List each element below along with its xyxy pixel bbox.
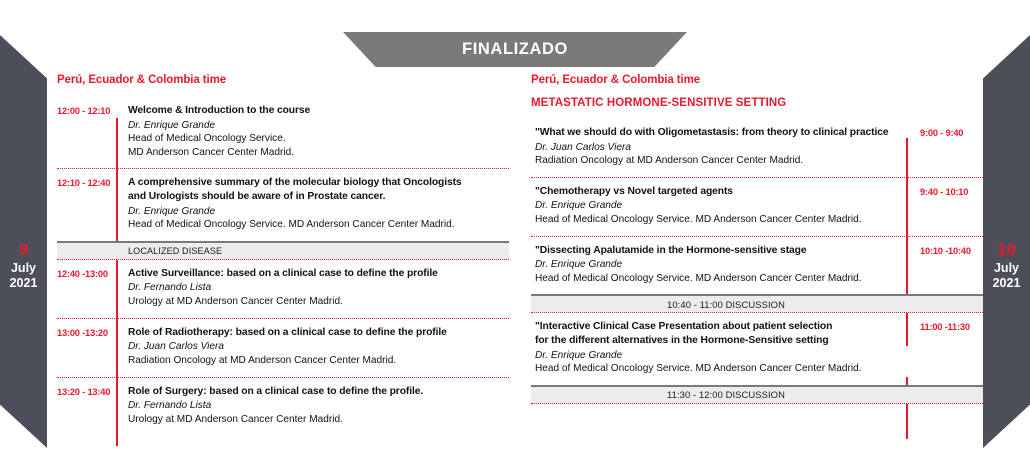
session-speaker: Dr. Juan Carlos Viera [535,141,896,155]
status-banner-label: FINALIZADO [462,40,568,59]
session-title: "What we should do with Oligometastasis:… [535,126,896,140]
session-title: "Dissecting Apalutamide in the Hormone-s… [535,244,896,258]
session-row[interactable]: "What we should do with Oligometastasis:… [531,119,983,178]
session-speaker: Dr. Enrique Grande [128,205,505,219]
session-body: "Interactive Clinical Case Presentation … [531,313,906,384]
session-speaker: Dr. Fernando Lista [128,281,505,295]
session-speaker: Dr. Enrique Grande [128,119,505,133]
session-body: "Chemotherapy vs Novel targeted agents D… [531,178,906,236]
session-affiliation: Head of Medical Oncology Service. MD And… [128,218,505,232]
session-row[interactable]: "Dissecting Apalutamide in the Hormone-s… [531,237,983,295]
discussion-band-label: 11:30 - 12:00 DISCUSSION [667,389,847,400]
discussion-band-2: 11:30 - 12:00 DISCUSSION [531,385,983,404]
session-affiliation: Urology at MD Anderson Cancer Center Mad… [128,295,505,309]
session-row[interactable]: 12:10 - 12:40 A comprehensive summary of… [57,169,509,240]
session-row[interactable]: "Chemotherapy vs Novel targeted agents D… [531,178,983,237]
session-body: Role of Radiotherapy: based on a clinica… [116,319,509,377]
session-title: "Chemotherapy vs Novel targeted agents [535,185,896,199]
discussion-band-1: 10:40 - 11:00 DISCUSSION [531,294,983,313]
session-body: "Dissecting Apalutamide in the Hormone-s… [531,237,906,295]
session-time: 12:10 - 12:40 [57,169,116,240]
date-day: 9 [0,240,47,261]
session-affiliation: Head of Medical Oncology Service. MD And… [535,213,896,227]
session-title: A comprehensive summary of the molecular… [128,176,505,190]
date-panel-day1: 9 July 2021 [0,35,47,448]
session-body: Welcome & Introduction to the course Dr.… [116,97,509,168]
session-body: "What we should do with Oligometastasis:… [531,119,906,177]
session-list-day2: "What we should do with Oligometastasis:… [531,119,983,404]
session-speaker: Dr. Juan Carlos Viera [128,340,505,354]
status-banner: FINALIZADO [343,32,687,67]
session-list-day1: 12:00 - 12:10 Welcome & Introduction to … [57,97,509,435]
agenda-column-day2: Perú, Ecuador & Colombia time METASTATIC… [531,74,983,404]
session-time: 12:00 - 12:10 [57,97,116,168]
session-row[interactable]: "Interactive Clinical Case Presentation … [531,313,983,384]
timezone-label-day1: Perú, Ecuador & Colombia time [57,74,509,86]
session-body: Role of Surgery: based on a clinical cas… [116,378,509,436]
session-body: A comprehensive summary of the molecular… [116,169,509,240]
session-speaker: Dr. Enrique Grande [535,258,896,272]
session-row[interactable]: 12:40 -13:00 Active Surveillance: based … [57,260,509,319]
session-time: 11:00 -11:30 [906,313,983,384]
session-time: 13:00 -13:20 [57,319,116,377]
session-affiliation: MD Anderson Cancer Center Madrid. [128,146,505,160]
session-title: Active Surveillance: based on a clinical… [128,267,505,281]
session-title: Welcome & Introduction to the course [128,104,505,118]
session-speaker: Dr. Fernando Lista [128,399,505,413]
date-year: 2021 [983,276,1030,291]
session-title: "Interactive Clinical Case Presentation … [535,320,896,334]
session-affiliation: Head of Medical Oncology Service. MD And… [535,362,896,376]
session-title: for the different alternatives in the Ho… [535,334,896,348]
session-time: 13:20 - 13:40 [57,378,116,436]
date-day: 10 [983,240,1030,261]
timezone-label-day2: Perú, Ecuador & Colombia time [531,74,983,86]
agenda-page: 9 July 2021 10 July 2021 FINALIZADO Perú… [0,0,1030,450]
agenda-column-day1: Perú, Ecuador & Colombia time 12:00 - 12… [57,74,509,435]
discussion-band-label: 10:40 - 11:00 DISCUSSION [667,299,847,310]
date-block-day1: 9 July 2021 [0,240,47,291]
session-affiliation: Head of Medical Oncology Service. [128,132,505,146]
session-body: Active Surveillance: based on a clinical… [116,260,509,318]
date-month: July [983,261,1030,276]
session-title: Role of Radiotherapy: based on a clinica… [128,326,505,340]
session-row[interactable]: 13:20 - 13:40 Role of Surgery: based on … [57,378,509,436]
session-affiliation: Radiation Oncology at MD Anderson Cancer… [128,354,505,368]
date-month: July [0,261,47,276]
date-block-day2: 10 July 2021 [983,240,1030,291]
session-title: and Urologists should be aware of in Pro… [128,190,505,204]
session-affiliation: Radiation Oncology at MD Anderson Cancer… [535,154,896,168]
date-year: 2021 [0,276,47,291]
session-time: 12:40 -13:00 [57,260,116,318]
section-band-localized-disease: LOCALIZED DISEASE [57,241,509,260]
session-time: 10:10 -10:40 [906,237,983,295]
session-affiliation: Head of Medical Oncology Service. MD And… [535,272,896,286]
session-speaker: Dr. Enrique Grande [535,199,896,213]
session-time: 9:00 - 9:40 [906,119,983,177]
section-band-label: LOCALIZED DISEASE [57,246,222,256]
section-title-metastatic: METASTATIC HORMONE-SENSITIVE SETTING [531,97,983,109]
session-row[interactable]: 12:00 - 12:10 Welcome & Introduction to … [57,97,509,169]
session-title: Role of Surgery: based on a clinical cas… [128,385,505,399]
session-time: 9:40 - 10:10 [906,178,983,236]
session-affiliation: Urology at MD Anderson Cancer Center Mad… [128,413,505,427]
session-speaker: Dr. Enrique Grande [535,349,896,363]
date-panel-day2: 10 July 2021 [983,35,1030,448]
session-row[interactable]: 13:00 -13:20 Role of Radiotherapy: based… [57,319,509,378]
